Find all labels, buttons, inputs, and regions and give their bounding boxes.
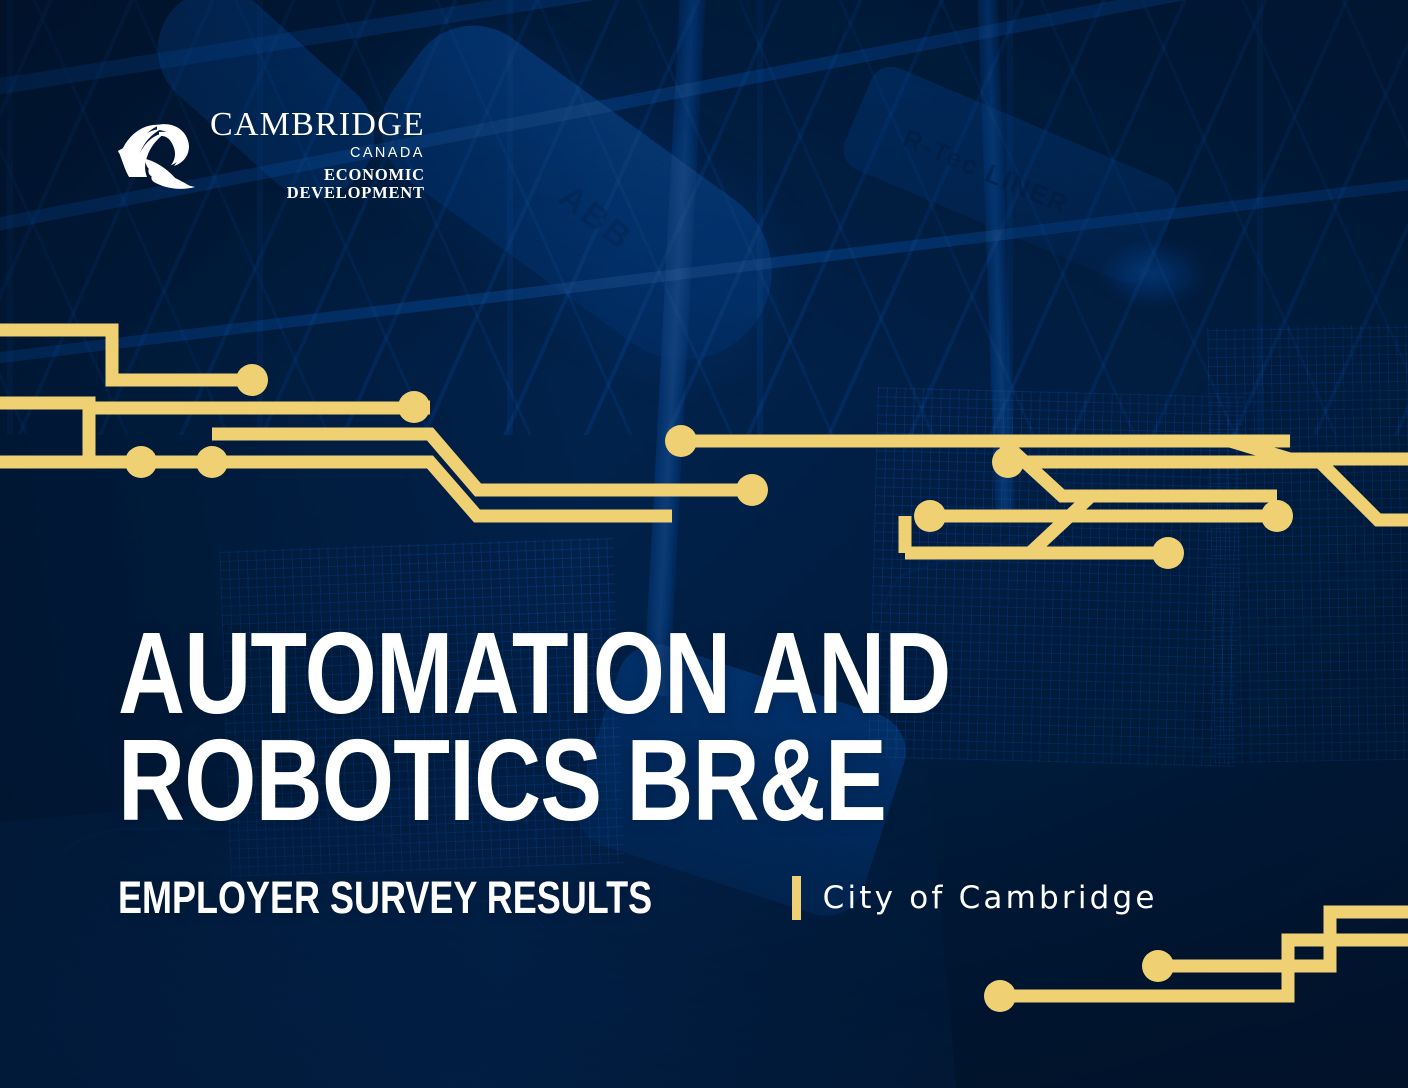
logo-wordmark-group: CAMBRIDGE CANADA ECONOMICDEVELOPMENT (210, 108, 425, 202)
logo-wordmark-division: ECONOMICDEVELOPMENT (287, 166, 425, 203)
circuit-node (236, 364, 268, 396)
logo-wordmark-canada: CANADA (350, 146, 425, 161)
circuit-node (196, 446, 228, 478)
circuit-node (125, 446, 157, 478)
gold-divider-bar (792, 876, 801, 920)
trace-path (1030, 497, 1090, 553)
circuit-node (992, 446, 1024, 478)
cover-title-block: AUTOMATION AND ROBOTICS BR&E (118, 620, 1159, 833)
circuit-node (914, 500, 946, 532)
logo-wordmark-cambridge: CAMBRIDGE (210, 108, 425, 142)
circuit-node (736, 474, 768, 506)
subtitle-organization: City of Cambridge (823, 880, 1158, 916)
wave-mark-svg (116, 119, 198, 191)
subtitle-primary: EMPLOYER SURVEY RESULTS (118, 872, 652, 924)
circuit-node (665, 425, 697, 457)
report-cover-page: CAMBRIDGE CANADA ECONOMICDEVELOPMENT AUT… (0, 0, 1408, 1088)
cambridge-economic-development-logo: CAMBRIDGE CANADA ECONOMICDEVELOPMENT (116, 108, 425, 202)
circuit-node (1142, 950, 1174, 982)
page-title-line-2: ROBOTICS BR&E (118, 727, 951, 834)
page-title-line-1: AUTOMATION AND (118, 620, 951, 727)
circuit-node (984, 980, 1016, 1012)
cover-subtitle-row: EMPLOYER SURVEY RESULTS City of Cambridg… (118, 872, 1158, 924)
trace-path (0, 330, 253, 380)
logo-division-line-1: ECONOMIC (324, 165, 425, 184)
logo-division-line-2: DEVELOPMENT (287, 183, 425, 202)
circuit-node (1152, 537, 1184, 569)
circuit-node (398, 391, 430, 423)
cambridge-wave-mark-icon (116, 119, 198, 191)
circuit-node (1261, 500, 1293, 532)
